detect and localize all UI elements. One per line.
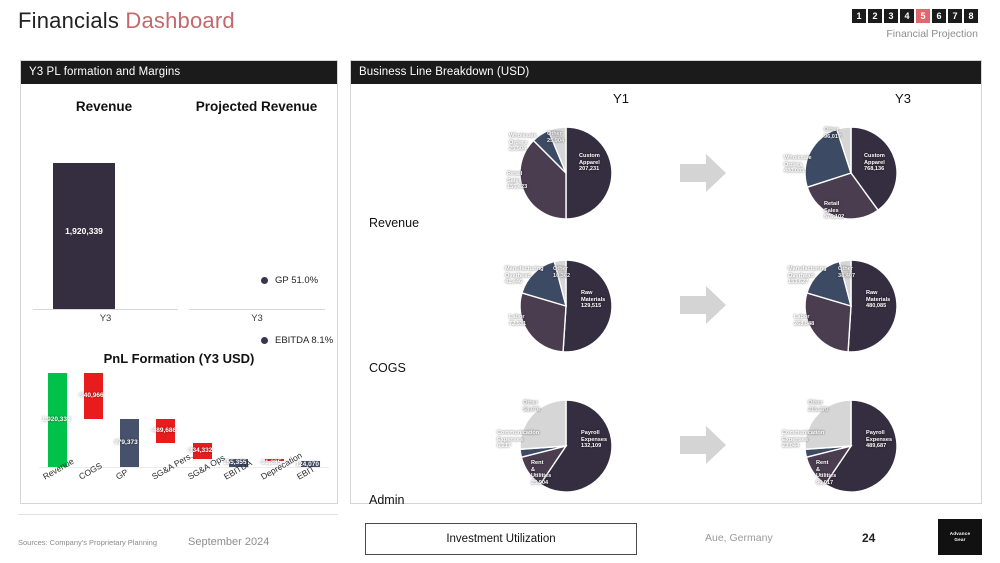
pie-slice-label: PayrollExpenses489,687: [866, 430, 892, 450]
pie-slice-label: RawMaterials480,085: [866, 290, 890, 310]
arrow-right-icon-cogs: [678, 283, 728, 327]
revenue-x-tick: Y3: [33, 313, 178, 324]
legend-ebitda-label: EBITDA 8.1%: [275, 335, 333, 346]
page-indicator[interactable]: 12345678: [852, 9, 978, 23]
revenue-bar-value: 1,920,339: [53, 226, 115, 236]
pie-admin-y3: PayrollExpenses489,687Rent&Utilities96,0…: [776, 386, 926, 508]
pie-slice: [566, 127, 612, 219]
pie-cogs-y1: RawMaterials129,515Labor72,531Manufactur…: [491, 246, 641, 368]
legend-gp-label: GP 51.0%: [275, 275, 318, 286]
revenue-column-title: Revenue: [29, 99, 179, 114]
pie-svg: [776, 246, 926, 368]
page-title-part1: Financials: [18, 8, 125, 33]
pie-slice-label: CommunicationExpenses23,044: [782, 430, 824, 450]
footer-sources: Sources: Company's Proprietary Planning: [18, 538, 157, 547]
pie-revenue-y1: CustomApparel207,231RetailSales155,423Wh…: [491, 113, 641, 235]
revenue-chart: Revenue Projected Revenue 1,920,339 Y3 Y…: [21, 85, 337, 353]
pie-slice-label: Other38,407: [838, 266, 855, 279]
pie-slice-label: Other25,904: [547, 131, 564, 144]
pie-slice-label: PayrollExpenses132,109: [581, 430, 607, 450]
waterfall-bar-value: 979,373: [114, 439, 138, 446]
row-label-revenue: Revenue: [369, 216, 479, 230]
panel-right-header: Business Line Breakdown (USD): [351, 61, 981, 84]
footer-date: September 2024: [188, 536, 269, 548]
page-dot-8[interactable]: 8: [964, 9, 978, 23]
pie-svg: [491, 246, 641, 368]
page-dot-2[interactable]: 2: [868, 9, 882, 23]
waterfall-title: PnL Formation (Y3 USD): [21, 351, 337, 366]
arrow-shape: [680, 426, 726, 464]
pie-revenue-y3: CustomApparel768,136RetailSales576,102Wh…: [776, 113, 926, 235]
pie-slice-label: RetailSales155,423: [507, 171, 527, 191]
pie-slice-label: Other10,362: [553, 266, 570, 279]
page-dot-4[interactable]: 4: [900, 9, 914, 23]
pie-slice-label: WholesaleOrders480,085: [784, 155, 812, 175]
arrow-shape: [680, 286, 726, 324]
page-header: Financials Dashboard 12345678 Financial …: [0, 0, 1000, 52]
projected-revenue-x-tick: Y3: [189, 313, 325, 324]
arrow-right-icon-admin: [678, 423, 728, 467]
page-dot-1[interactable]: 1: [852, 9, 866, 23]
page-title-part2: Dashboard: [125, 8, 234, 33]
page-dot-7[interactable]: 7: [948, 9, 962, 23]
pie-slice-label: ManufacturingOverhead41,446: [505, 266, 544, 286]
logo-line2: Gear: [954, 537, 965, 543]
column-header-y3: Y3: [843, 91, 963, 106]
row-label-cogs: COGS: [369, 361, 479, 375]
footer-page-number: 24: [862, 531, 875, 545]
waterfall-bar-value: 1,920,339: [42, 416, 71, 423]
waterfall-bar-value: -940,966: [78, 392, 104, 399]
revenue-axis-line: [33, 309, 178, 310]
company-logo: Advance Gear: [938, 519, 982, 555]
panel-left-header: Y3 PL formation and Margins: [21, 61, 337, 84]
page-dot-3[interactable]: 3: [884, 9, 898, 23]
pie-slice-label: Other96,017: [824, 127, 841, 140]
pie-slice-label: Other215,270: [808, 400, 828, 413]
page-dot-6[interactable]: 6: [932, 9, 946, 23]
pie-cogs-y3: RawMaterials480,085Labor268,848Manufactu…: [776, 246, 926, 368]
page-indicator-caption: Financial Projection: [886, 28, 978, 40]
pie-slice-label: Labor268,848: [794, 314, 814, 327]
pie-slice-label: Labor72,531: [509, 314, 526, 327]
arrow-shape: [680, 154, 726, 192]
page-title: Financials Dashboard: [18, 8, 235, 34]
pie-slice-label: Other58,076: [523, 400, 540, 413]
pie-slice-label: CustomApparel768,136: [864, 153, 885, 173]
arrow-right-icon-revenue: [678, 151, 728, 195]
footer-divider: [18, 514, 338, 515]
investment-utilization-label: Investment Utilization: [446, 533, 555, 545]
pie-slice-label: Rent&Utilities96,017: [816, 460, 836, 486]
projected-revenue-column-title: Projected Revenue: [179, 99, 334, 114]
pie-slice-label: CustomApparel207,231: [579, 153, 600, 173]
column-header-y1: Y1: [561, 91, 681, 106]
legend-gp: GP 51.0%: [261, 275, 318, 286]
projected-revenue-axis-line: [189, 309, 325, 310]
revenue-bar: [53, 163, 115, 309]
panel-business-line-breakdown: Business Line Breakdown (USD) Y1 Y3 Reve…: [350, 60, 982, 504]
pie-slice-label: WholesaleOrders25,904: [509, 133, 537, 153]
pie-slice-label: ManufacturingOverhead153,627: [788, 266, 827, 286]
legend-ebitda: EBITDA 8.1%: [261, 335, 333, 346]
pie-slice-label: CommunicationExpenses6,217: [497, 430, 539, 450]
waterfall-bar-value: -489,686: [150, 427, 176, 434]
investment-utilization-button[interactable]: Investment Utilization: [365, 523, 637, 555]
panel-pl-formation: Y3 PL formation and Margins Revenue Proj…: [20, 60, 338, 504]
footer-city: Aue, Germany: [705, 532, 773, 544]
legend-dot-icon: [261, 277, 268, 284]
pie-slice-label: RawMaterials129,515: [581, 290, 605, 310]
pie-slice-label: Rent&Utilities25,904: [531, 460, 551, 486]
pie-slice-label: RetailSales576,102: [824, 201, 844, 221]
waterfall-category-label: GP: [114, 467, 130, 482]
pie-admin-y1: PayrollExpenses132,109Rent&Utilities25,9…: [491, 386, 641, 508]
waterfall-chart: PnL Formation (Y3 USD) 1,920,339-940,966…: [21, 351, 337, 501]
legend-dot-icon: [261, 337, 268, 344]
page-dot-5[interactable]: 5: [916, 9, 930, 23]
